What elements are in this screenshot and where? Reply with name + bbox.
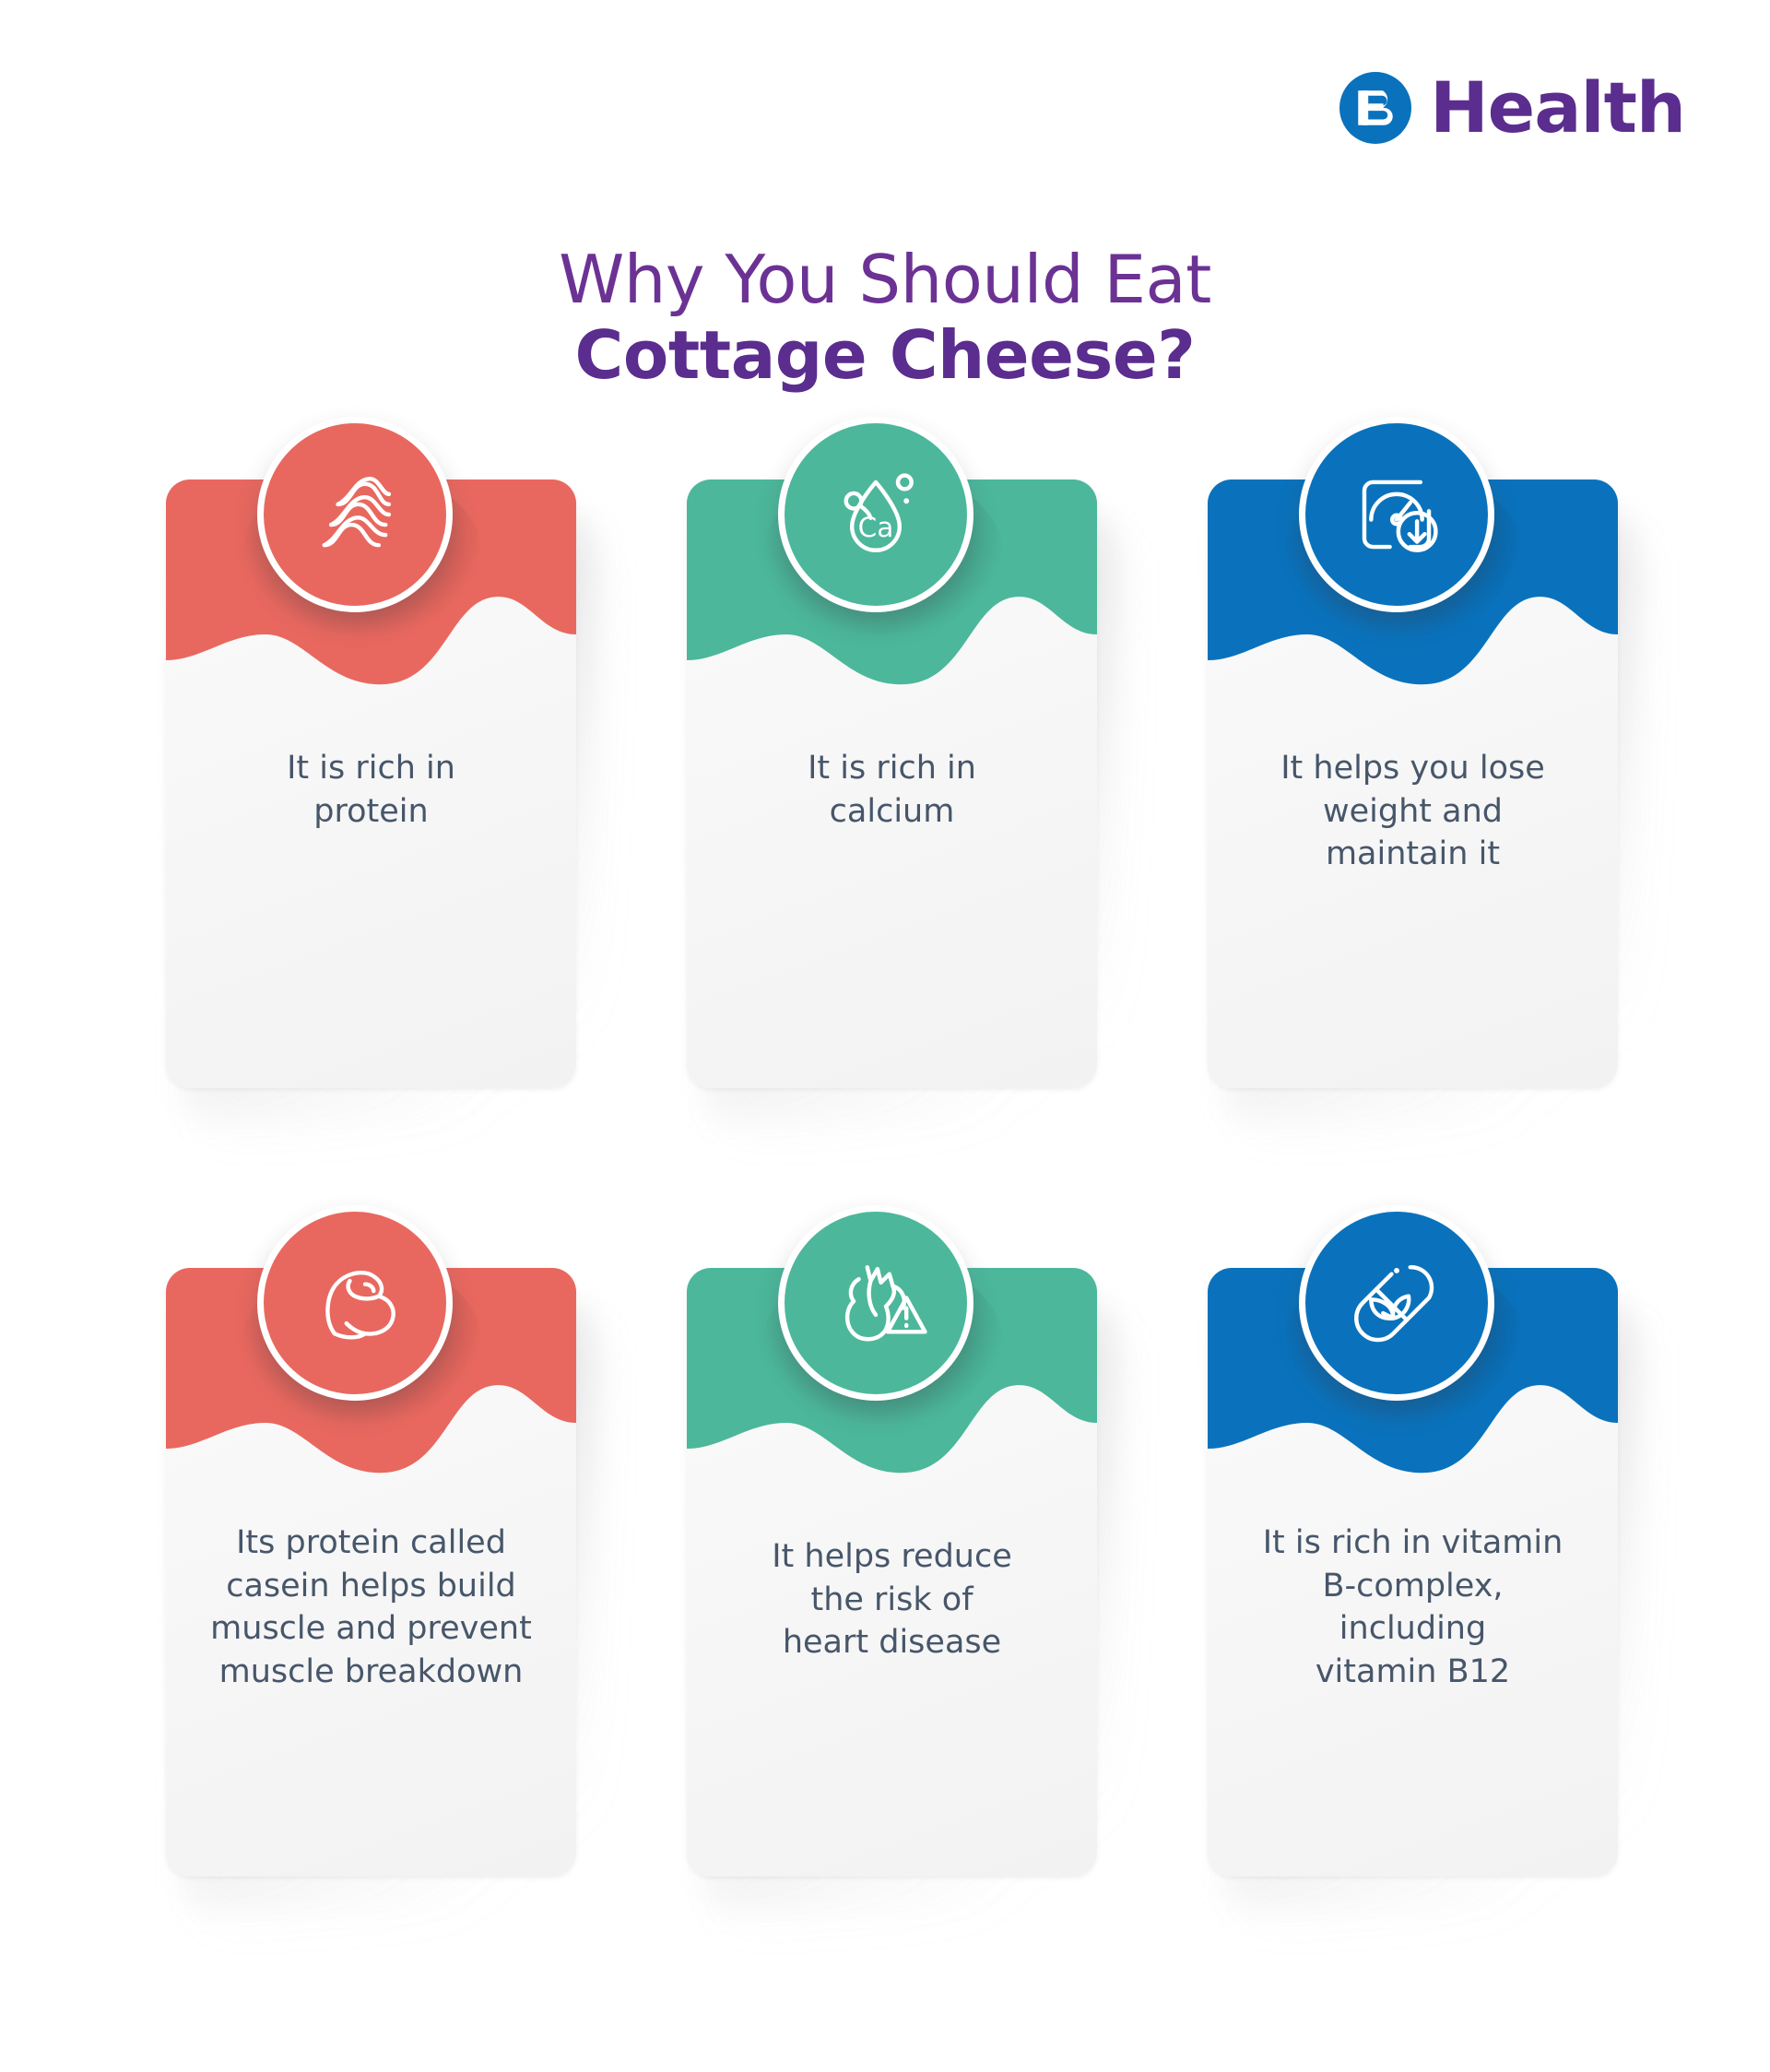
brand-logo: Health [1339, 72, 1685, 144]
brand-wordmark: Health [1430, 73, 1685, 143]
card-caption: It helps you lose weight and maintain it [1230, 747, 1596, 876]
card-icon-badge [257, 1205, 453, 1401]
infographic-page: Health Why You Should Eat Cottage Cheese… [0, 0, 1770, 2072]
bajaj-b-logo-icon [1339, 72, 1411, 144]
benefit-card: It helps reduce the risk of heart diseas… [687, 1268, 1097, 1877]
herbal-capsule-leaf-icon [1342, 1249, 1451, 1357]
card-icon-badge [1299, 417, 1494, 612]
weight-scale-down-arrow-icon [1342, 460, 1451, 569]
flexed-bicep-muscle-icon [301, 1249, 409, 1357]
card-icon-badge: Ca [778, 417, 973, 612]
benefit-card: It is rich in vitamin B-complex, includi… [1208, 1268, 1618, 1877]
benefit-card-grid: It is rich in protein [166, 480, 1613, 1877]
calcium-droplet-icon: Ca [821, 460, 930, 569]
card-caption: Its protein called casein helps build mu… [188, 1521, 554, 1693]
dna-protein-helix-icon [301, 460, 409, 569]
benefit-card: It is rich in calcium Ca [687, 480, 1097, 1088]
card-caption: It is rich in calcium [709, 747, 1075, 833]
card-icon-badge [1299, 1205, 1494, 1401]
svg-text:Ca: Ca [857, 512, 893, 543]
title-line-1: Why You Should Eat [0, 242, 1770, 317]
benefit-card: It is rich in protein [166, 480, 576, 1088]
card-icon-badge [778, 1205, 973, 1401]
card-caption: It is rich in vitamin B-complex, includi… [1230, 1521, 1596, 1693]
heart-warning-icon [821, 1249, 930, 1357]
card-caption: It helps reduce the risk of heart diseas… [709, 1535, 1075, 1664]
title-line-2: Cottage Cheese? [0, 317, 1770, 393]
benefit-card: It helps you lose weight and maintain it [1208, 480, 1618, 1088]
card-caption: It is rich in protein [188, 747, 554, 833]
card-icon-badge [257, 417, 453, 612]
page-title: Why You Should Eat Cottage Cheese? [0, 242, 1770, 393]
benefit-card: Its protein called casein helps build mu… [166, 1268, 576, 1877]
